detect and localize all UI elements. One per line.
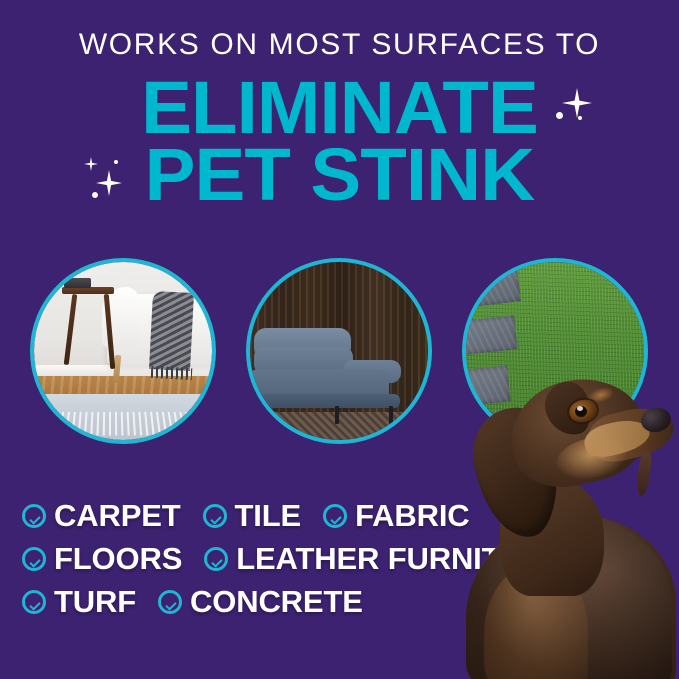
check-circle-icon [203, 504, 227, 528]
photo-inner [34, 262, 212, 440]
check-circle-icon [22, 504, 46, 528]
promo-image: WORKS ON MOST SURFACES TO ELIMINATE PET … [0, 0, 679, 679]
side-table-top [62, 287, 114, 294]
stacked-books [64, 278, 91, 288]
check-circle-icon [158, 590, 182, 614]
living-room-rug-photo [30, 258, 216, 444]
fabric-sofa-photo [246, 258, 432, 444]
check-circle-icon [323, 504, 347, 528]
sofa-base [250, 394, 400, 408]
surface-item-concrete: CONCRETE [158, 586, 363, 617]
dog-eye-glint [577, 406, 583, 411]
dachshund-photo [438, 368, 679, 679]
dog-tongue [635, 451, 652, 496]
check-circle-icon [22, 547, 46, 571]
headline-line-2: PET STINK [0, 142, 679, 209]
surface-label: CONCRETE [190, 586, 363, 617]
surface-label: FLOORS [54, 543, 182, 574]
sofa-leg [335, 406, 339, 424]
surface-item-floors: FLOORS [22, 543, 182, 574]
gray-area-rug [34, 394, 212, 440]
surface-label: TURF [54, 586, 136, 617]
sofa-leg [389, 406, 393, 424]
sparkle-dot-icon [114, 160, 118, 164]
blanket-fringe [151, 366, 193, 381]
sparkle-dot-icon [92, 192, 98, 198]
surface-label: TILE [235, 500, 302, 531]
gray-throw-blanket [149, 291, 194, 371]
surface-label: CARPET [54, 500, 181, 531]
photo-inner [250, 262, 428, 440]
check-circle-icon [204, 547, 228, 571]
surface-item-carpet: CARPET [22, 500, 181, 531]
sparkle-dot-icon [578, 116, 582, 120]
check-circle-icon [22, 590, 46, 614]
sparkle-dot-icon [556, 112, 563, 119]
kicker-headline: WORKS ON MOST SURFACES TO [0, 30, 679, 60]
sofa-leg [266, 406, 270, 424]
surface-item-turf: TURF [22, 586, 136, 617]
surface-item-tile: TILE [203, 500, 302, 531]
